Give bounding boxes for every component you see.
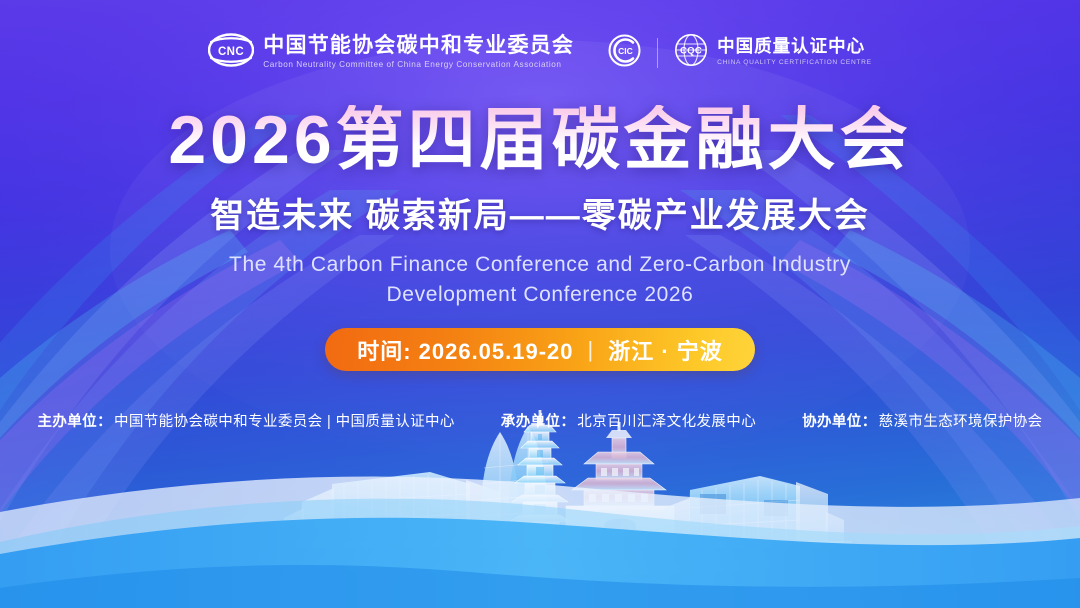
svg-text:CQC: CQC [680,45,702,56]
organizer-coorganizer: 协办单位： 慈溪市生态环境保护协会 [802,410,1042,431]
organizer-host-label: 主办单位： [37,410,112,431]
cnc-logo-text: 中国节能协会碳中和专业委员会 Carbon Neutrality Committ… [263,34,574,70]
organizer-undertaker: 承办单位： 北京百川汇泽文化发展中心 [501,410,756,431]
cqc-globe-icon: CQC [674,33,708,72]
cnc-name-cn: 中国节能协会碳中和专业委员会 [263,34,574,58]
cnc-logo-mark: CNC [208,33,254,72]
cqc-name-en: CHINA QUALITY CERTIFICATION CENTRE [717,59,872,68]
logo-divider [657,38,658,68]
organizer-host-value: 中国节能协会碳中和专业委员会 | 中国质量认证中心 [114,410,455,431]
title-block: 2026第四届碳金融大会 智造未来 碳索新局——零碳产业发展大会 The 4th… [0,105,1080,310]
subtitle-english-line1: The 4th Carbon Finance Conference and Ze… [150,250,930,280]
badge-date-text: 时间: 2026.05.19-20 [357,334,573,366]
cqc-logo-text: 中国质量认证中心 CHINA QUALITY CERTIFICATION CEN… [717,37,872,67]
logo-header: CNC 中国节能协会碳中和专业委员会 Carbon Neutrality Com… [0,33,1080,72]
subtitle-english: The 4th Carbon Finance Conference and Ze… [150,250,930,310]
svg-text:CIC: CIC [618,46,633,56]
badge-location-text: 浙江 · 宁波 [608,334,723,366]
badge-separator: | [588,337,595,363]
subtitle-english-line2: Development Conference 2026 [150,280,930,310]
conference-poster: CNC 中国节能协会碳中和专业委员会 Carbon Neutrality Com… [0,0,1080,608]
organizer-row: 主办单位： 中国节能协会碳中和专业委员会 | 中国质量认证中心 承办单位： 北京… [0,410,1080,431]
cnc-logo: CNC 中国节能协会碳中和专业委员会 Carbon Neutrality Com… [208,33,574,72]
organizer-coorganizer-value: 慈溪市生态环境保护协会 [879,410,1043,431]
organizer-host: 主办单位： 中国节能协会碳中和专业委员会 | 中国质量认证中心 [37,410,454,431]
subtitle-chinese: 智造未来 碳索新局——零碳产业发展大会 [0,188,1080,237]
organizer-undertaker-value: 北京百川汇泽文化发展中心 [577,410,756,431]
svg-text:CNC: CNC [218,46,244,58]
date-location-badge: 时间: 2026.05.19-20 | 浙江 · 宁波 [325,328,755,371]
cqc-logo: CIC CQC 中国质量认证中心 CHINA QUALITY CERTIFICA… [608,33,872,72]
cqc-c-mark-icon: CIC [608,34,641,72]
cnc-name-en: Carbon Neutrality Committee of China Ene… [263,60,574,71]
organizer-undertaker-label: 承办单位： [501,410,576,431]
organizer-coorganizer-label: 协办单位： [802,410,877,431]
main-title: 2026第四届碳金融大会 [0,105,1080,176]
date-badge-row: 时间: 2026.05.19-20 | 浙江 · 宁波 [0,328,1080,371]
cqc-name-cn: 中国质量认证中心 [717,37,872,57]
